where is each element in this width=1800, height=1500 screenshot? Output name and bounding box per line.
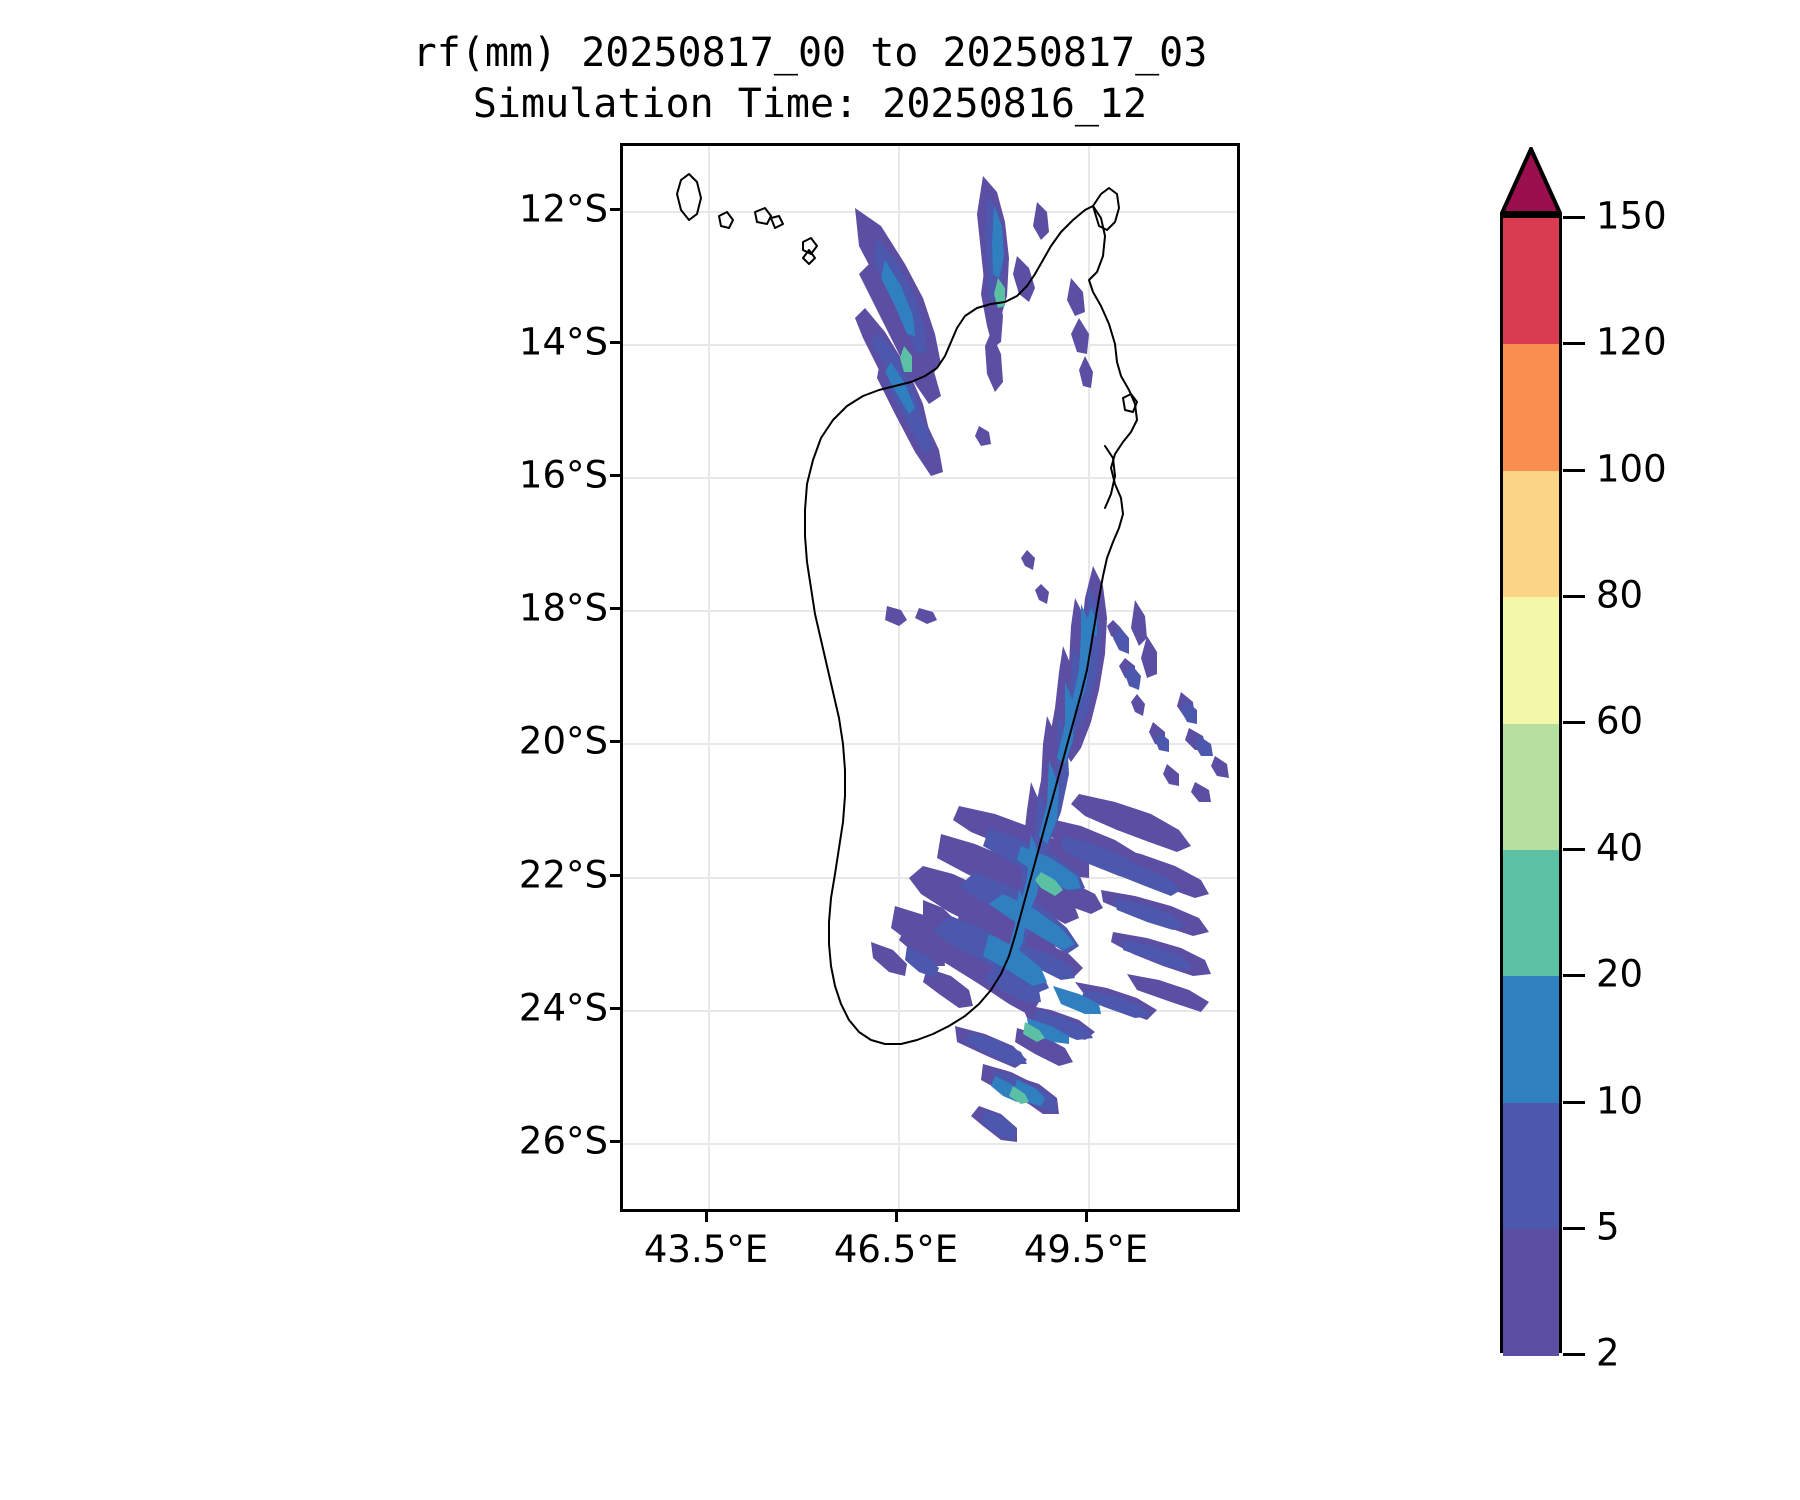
y-tick-label-12s: 12°S [408, 188, 608, 231]
colorbar-tick [1563, 1227, 1585, 1230]
chart-title-block: rf(mm) 20250817_00 to 20250817_03 Simula… [0, 28, 1620, 130]
title-line-2: Simulation Time: 20250816_12 [0, 79, 1620, 130]
y-tick-label-16s: 16°S [408, 454, 608, 497]
x-tick-mark [895, 1212, 898, 1222]
coastline-overlay [623, 146, 1237, 1209]
colorbar-tick [1563, 216, 1585, 219]
colorbar-tick [1563, 721, 1585, 724]
y-tick-mark [610, 607, 620, 610]
y-tick-mark [610, 874, 620, 877]
colorbar-label-20: 20 [1596, 953, 1643, 996]
colorbar-label-60: 60 [1596, 700, 1643, 743]
y-tick-mark [610, 740, 620, 743]
colorbar-label-40: 40 [1596, 827, 1643, 870]
y-tick-label-18s: 18°S [408, 587, 608, 630]
colorbar-tick [1563, 974, 1585, 977]
colorbar-tick [1563, 595, 1585, 598]
colorbar-gradient [1500, 215, 1562, 1353]
y-tick-mark [610, 1007, 620, 1010]
y-tick-label-22s: 22°S [408, 854, 608, 897]
title-line-1: rf(mm) 20250817_00 to 20250817_03 [0, 28, 1620, 79]
colorbar-tick [1563, 342, 1585, 345]
y-tick-label-20s: 20°S [408, 720, 608, 763]
colorbar-label-2: 2 [1596, 1332, 1620, 1375]
colorbar[interactable]: 150 120 100 80 60 40 20 10 5 2 [1492, 143, 1792, 1383]
y-tick-mark [610, 474, 620, 477]
x-tick-label-49-5e: 49.5°E [956, 1228, 1216, 1271]
colorbar-label-5: 5 [1596, 1206, 1620, 1249]
y-tick-mark [610, 1140, 620, 1143]
colorbar-label-120: 120 [1596, 321, 1667, 364]
colorbar-extend-arrow [1500, 147, 1562, 217]
colorbar-tick [1563, 848, 1585, 851]
colorbar-label-150: 150 [1596, 195, 1667, 238]
colorbar-label-100: 100 [1596, 448, 1667, 491]
colorbar-label-80: 80 [1596, 574, 1643, 617]
map-plot-area[interactable] [620, 143, 1240, 1212]
y-tick-mark [610, 208, 620, 211]
colorbar-tick [1563, 1353, 1585, 1356]
colorbar-label-10: 10 [1596, 1080, 1643, 1123]
x-tick-mark [1085, 1212, 1088, 1222]
x-tick-mark [705, 1212, 708, 1222]
y-tick-mark [610, 341, 620, 344]
y-tick-label-26s: 26°S [408, 1120, 608, 1163]
colorbar-tick [1563, 469, 1585, 472]
y-tick-label-14s: 14°S [408, 321, 608, 364]
colorbar-tick [1563, 1101, 1585, 1104]
y-tick-label-24s: 24°S [408, 987, 608, 1030]
